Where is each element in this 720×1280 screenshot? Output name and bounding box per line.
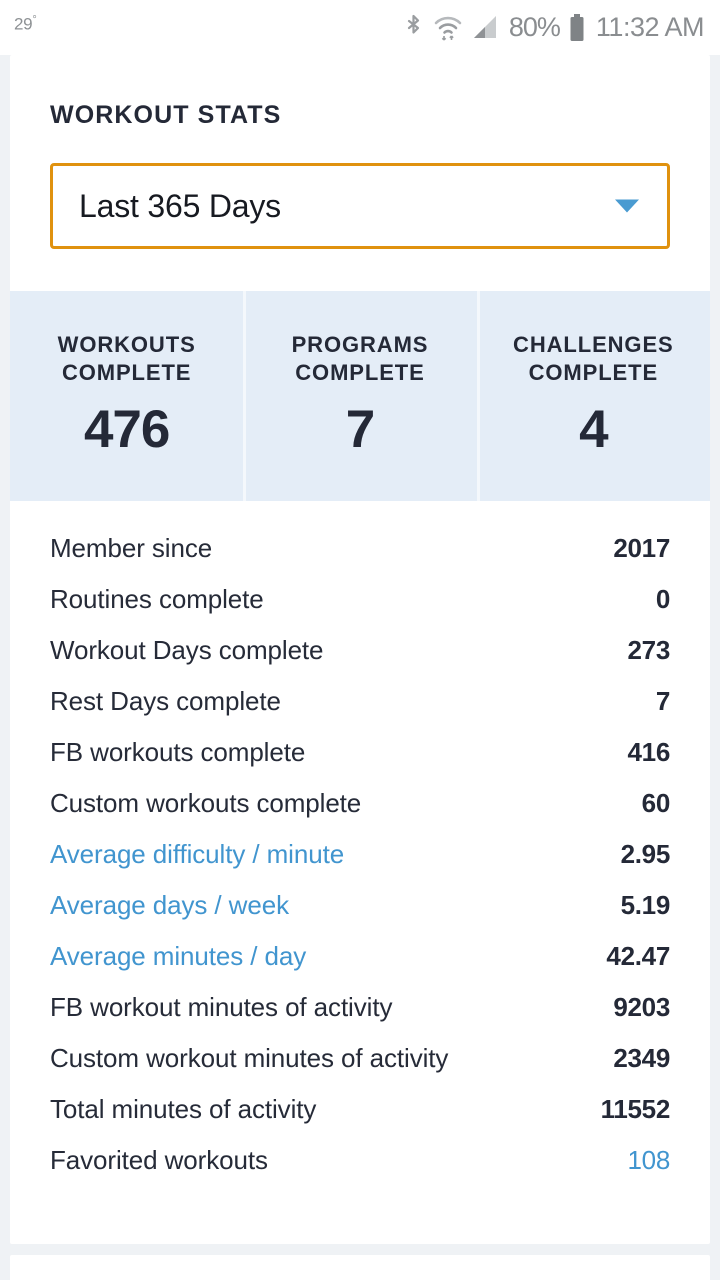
stat-row-label: Rest Days complete — [50, 686, 281, 717]
stat-row-label: Member since — [50, 533, 212, 564]
stat-row-value: 416 — [628, 737, 670, 768]
stat-row-label: Routines complete — [50, 584, 264, 615]
date-range-selected-value: Last 365 Days — [79, 188, 281, 225]
stat-row-label[interactable]: Average days / week — [50, 890, 289, 921]
workout-stats-card: WORKOUT STATS Last 365 Days WORKOUTS COM… — [10, 55, 710, 1244]
stat-row-label: FB workouts complete — [50, 737, 305, 768]
stat-row-label: Favorited workouts — [50, 1145, 268, 1176]
tile-workouts-complete: WORKOUTS COMPLETE 476 — [10, 291, 243, 501]
card-spacer — [0, 1244, 720, 1255]
stat-row: Total minutes of activity11552 — [50, 1094, 670, 1145]
wifi-icon — [433, 13, 463, 43]
battery-icon — [569, 13, 585, 43]
stat-row-value: 11552 — [601, 1094, 670, 1125]
status-bar-right: 80% 11:32 AM — [404, 12, 704, 43]
app-screen: 29° 80% — [0, 0, 720, 1280]
clock: 11:32 AM — [596, 12, 704, 43]
tile-label-line2: COMPLETE — [295, 360, 424, 385]
stat-row-label[interactable]: Average difficulty / minute — [50, 839, 344, 870]
status-bar: 29° 80% — [0, 0, 720, 55]
tile-label: WORKOUTS COMPLETE — [58, 331, 196, 387]
stat-row-label: FB workout minutes of activity — [50, 992, 392, 1023]
card-header: WORKOUT STATS — [10, 55, 710, 130]
stat-row: Average difficulty / minute2.95 — [50, 839, 670, 890]
stat-row-value: 9203 — [613, 992, 670, 1023]
stat-row-label: Custom workouts complete — [50, 788, 361, 819]
stat-row-value: 60 — [642, 788, 670, 819]
tile-label-line2: COMPLETE — [62, 360, 191, 385]
stats-list: Member since2017Routines complete0Workou… — [10, 501, 710, 1244]
stat-row-value: 2.95 — [621, 839, 670, 870]
stat-row-label: Total minutes of activity — [50, 1094, 316, 1125]
degree-symbol: ° — [32, 14, 36, 26]
tile-label-line2: COMPLETE — [529, 360, 658, 385]
tile-label-line1: PROGRAMS — [292, 332, 429, 357]
tile-challenges-complete: CHALLENGES COMPLETE 4 — [477, 291, 710, 501]
status-bar-left: 29° — [14, 19, 36, 37]
stat-row: FB workouts complete416 — [50, 737, 670, 788]
stat-row-value: 273 — [628, 635, 670, 666]
stat-row: Routines complete0 — [50, 584, 670, 635]
next-card — [10, 1255, 710, 1280]
summary-tiles: WORKOUTS COMPLETE 476 PROGRAMS COMPLETE … — [10, 291, 710, 501]
tile-value: 476 — [84, 403, 169, 456]
stat-row: Custom workouts complete60 — [50, 788, 670, 839]
stat-row: Workout Days complete273 — [50, 635, 670, 686]
stat-row-label: Workout Days complete — [50, 635, 323, 666]
stat-row: Member since2017 — [50, 533, 670, 584]
stat-row-value: 2017 — [613, 533, 670, 564]
stat-row-label[interactable]: Average minutes / day — [50, 941, 306, 972]
date-range-select[interactable]: Last 365 Days — [50, 163, 670, 249]
tile-value: 7 — [346, 403, 374, 456]
tile-value: 4 — [579, 403, 607, 456]
stat-row: Average minutes / day42.47 — [50, 941, 670, 992]
stat-row: Favorited workouts108 — [50, 1145, 670, 1196]
tile-label-line1: WORKOUTS — [58, 332, 196, 357]
stat-row: Rest Days complete7 — [50, 686, 670, 737]
tile-label-line1: CHALLENGES — [513, 332, 674, 357]
tile-label: CHALLENGES COMPLETE — [513, 331, 674, 387]
battery-percentage: 80% — [509, 12, 560, 43]
stat-row-value: 5.19 — [621, 890, 670, 921]
temperature-indicator: 29° — [14, 15, 36, 33]
tile-label: PROGRAMS COMPLETE — [292, 331, 429, 387]
stat-row-value[interactable]: 108 — [628, 1145, 670, 1176]
page-title: WORKOUT STATS — [10, 101, 710, 130]
stat-row-value: 0 — [656, 584, 670, 615]
stat-row-value: 7 — [656, 686, 670, 717]
stat-row-value: 2349 — [613, 1043, 670, 1074]
stat-row: Custom workout minutes of activity2349 — [50, 1043, 670, 1094]
stat-row: FB workout minutes of activity9203 — [50, 992, 670, 1043]
tile-programs-complete: PROGRAMS COMPLETE 7 — [243, 291, 476, 501]
bluetooth-icon — [404, 13, 424, 43]
cellular-signal-icon — [472, 14, 500, 42]
stat-row-value: 42.47 — [606, 941, 670, 972]
date-range-select-wrapper: Last 365 Days — [10, 130, 710, 291]
stat-row-label: Custom workout minutes of activity — [50, 1043, 448, 1074]
stat-row: Average days / week5.19 — [50, 890, 670, 941]
chevron-down-icon[interactable] — [615, 200, 639, 213]
